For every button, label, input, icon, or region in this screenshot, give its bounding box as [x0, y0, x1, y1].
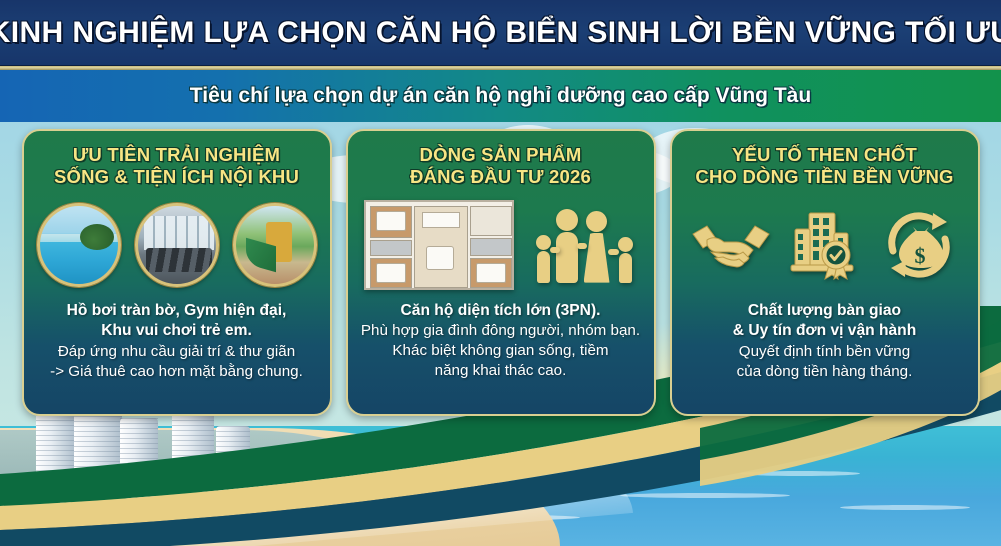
card-cashflow-factors[interactable]: YẾU TỐ THEN CHỐT CHO DÒNG TIỀN BỀN VỮNG	[670, 129, 980, 416]
family-child-body	[619, 253, 632, 283]
card-body-line: Căn hộ diện tích lớn (3PN).	[360, 301, 642, 322]
floorplan-furniture	[376, 263, 406, 283]
card-title-line-1: YẾU TỐ THEN CHỐT	[684, 144, 966, 166]
floorplan-furniture	[426, 246, 454, 270]
family-joined-hands	[577, 243, 587, 249]
card-title-line-2: SỐNG & TIỆN ÍCH NỘI KHU	[36, 166, 318, 188]
svg-text:$: $	[914, 243, 925, 268]
card-title: ƯU TIÊN TRẢI NGHIỆM SỐNG & TIỆN ÍCH NỘI …	[36, 144, 318, 188]
poster-header: KINH NGHIỆM LỰA CHỌN CĂN HỘ BIỂN SINH LỜ…	[0, 0, 1001, 65]
card-title-line-2: ĐÁNG ĐẦU TƯ 2026	[360, 166, 642, 188]
family-child-head	[536, 235, 551, 250]
card-title: DÒNG SẢN PHẨM ĐÁNG ĐẦU TƯ 2026	[360, 144, 642, 188]
card-body-line: Đáp ứng nhu cầu giải trí & thư giãn	[36, 342, 318, 362]
family-icon	[534, 203, 638, 287]
family-joined-hands	[608, 249, 619, 255]
card-body-line: năng khai thác cao.	[360, 361, 642, 381]
family-father-body	[556, 232, 578, 283]
card-title: YẾU TỐ THEN CHỐT CHO DÒNG TIỀN BỀN VỮNG	[684, 144, 966, 188]
card-body-line: Quyết định tính bền vững	[684, 342, 966, 362]
family-father-head	[556, 209, 578, 231]
card-body-line: Khu vui chơi trẻ em.	[36, 321, 318, 342]
floorplan-furniture	[476, 263, 506, 283]
card-title-line-1: DÒNG SẢN PHẨM	[360, 144, 642, 166]
card-amenities[interactable]: ƯU TIÊN TRẢI NGHIỆM SỐNG & TIỆN ÍCH NỘI …	[22, 129, 332, 416]
card-body-line: & Uy tín đơn vị vận hành	[684, 321, 966, 342]
page-title: KINH NGHIỆM LỰA CHỌN CĂN HỘ BIỂN SINH LỜ…	[0, 16, 1001, 50]
page-subtitle: Tiêu chí lựa chọn dự án căn hộ nghỉ dưỡn…	[190, 84, 811, 108]
pool-photo	[37, 203, 121, 287]
card-title-line-2: CHO DÒNG TIỀN BỀN VỮNG	[684, 166, 966, 188]
floorplan-icon	[364, 200, 514, 290]
family-mother-body	[584, 233, 610, 283]
playground-photo	[233, 203, 317, 287]
money-bag-recycle-icon: $	[877, 205, 961, 285]
subtitle-bar: Tiêu chí lựa chọn dự án căn hộ nghỉ dưỡn…	[0, 70, 1001, 122]
card-title-line-1: ƯU TIÊN TRẢI NGHIỆM	[36, 144, 318, 166]
card-body-line: Hồ bơi tràn bờ, Gym hiện đại,	[36, 301, 318, 322]
card-product-line[interactable]: DÒNG SẢN PHẨM ĐÁNG ĐẦU TƯ 2026	[346, 129, 656, 416]
card-body-line: Phù hợp gia đình đông người, nhóm bạn.	[360, 321, 642, 341]
card-media: $	[684, 197, 966, 293]
floorplan-room-bathroom	[370, 240, 412, 256]
floorplan-room-kitchen	[470, 206, 512, 236]
gym-photo	[135, 203, 219, 287]
family-joined-hands	[550, 247, 560, 253]
card-body-line: Chất lượng bàn giao	[684, 301, 966, 322]
card-media	[360, 197, 642, 293]
card-body-line: -> Giá thuê cao hơn mặt bằng chung.	[36, 362, 318, 382]
floorplan-furniture	[376, 211, 406, 231]
card-media	[36, 197, 318, 293]
card-body: Căn hộ diện tích lớn (3PN). Phù hợp gia …	[360, 301, 642, 382]
family-child-head	[618, 237, 633, 252]
family-child-body	[537, 251, 550, 283]
infographic-poster: KINH NGHIỆM LỰA CHỌN CĂN HỘ BIỂN SINH LỜ…	[0, 0, 1001, 546]
building-certificate-icon	[783, 205, 867, 285]
card-body: Hồ bơi tràn bờ, Gym hiện đại, Khu vui ch…	[36, 301, 318, 382]
card-body: Chất lượng bàn giao & Uy tín đơn vị vận …	[684, 301, 966, 382]
floorplan-furniture	[422, 212, 460, 228]
card-body-line: Khác biệt không gian sống, tiềm	[360, 341, 642, 361]
criteria-cards: ƯU TIÊN TRẢI NGHIỆM SỐNG & TIỆN ÍCH NỘI …	[0, 129, 1001, 416]
handshake-icon	[689, 205, 773, 285]
card-body-line: của dòng tiền hàng tháng.	[684, 362, 966, 382]
family-mother-head	[586, 211, 607, 232]
floorplan-room-bathroom	[470, 238, 512, 256]
